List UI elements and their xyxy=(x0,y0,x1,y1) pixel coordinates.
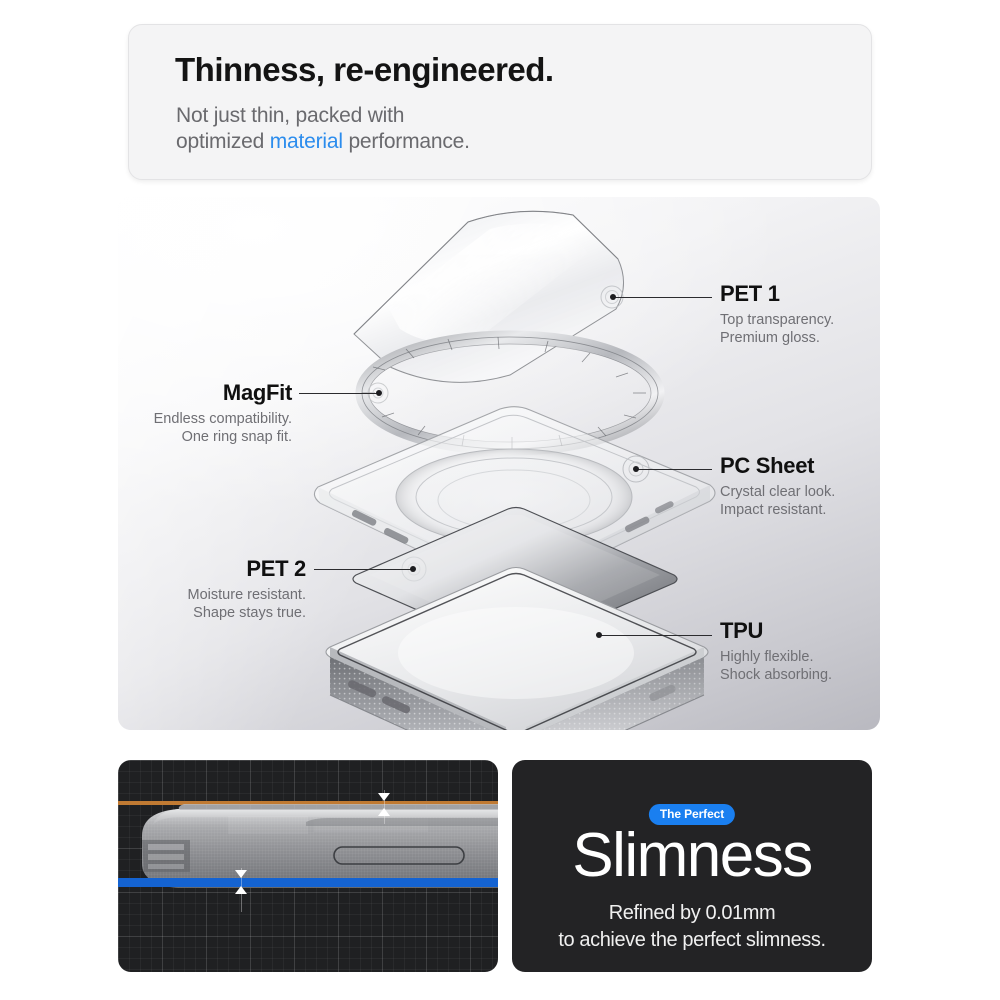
callout-pet2-desc: Moisture resistant. Shape stays true. xyxy=(118,586,306,622)
subtitle-line-1: Not just thin, packed with xyxy=(176,104,404,127)
callout-tpu-desc-line2: Shock absorbing. xyxy=(720,667,832,683)
measure-line-bottom xyxy=(118,878,498,887)
profile-measurement-panel xyxy=(118,760,498,972)
page-title: Thinness, re-engineered. xyxy=(175,51,554,89)
header-card: Thinness, re-engineered. Not just thin, … xyxy=(128,24,872,180)
slimness-title: Slimness xyxy=(512,820,872,892)
callout-tpu: TPU Highly flexible. Shock absorbing. xyxy=(720,618,832,684)
callout-tpu-desc: Highly flexible. Shock absorbing. xyxy=(720,648,832,684)
leader-dot-pet2 xyxy=(410,566,416,572)
callout-magfit: MagFit Endless compatibility. One ring s… xyxy=(118,380,292,446)
callout-magfit-title: MagFit xyxy=(118,380,292,406)
exploded-view-panel: PET 1 Top transparency. Premium gloss. M… xyxy=(118,197,880,730)
callout-pcsheet-desc: Crystal clear look. Impact resistant. xyxy=(720,483,835,519)
leader-line-magfit xyxy=(299,393,381,394)
leader-line-pcsheet xyxy=(638,469,712,470)
callout-pet1-desc: Top transparency. Premium gloss. xyxy=(720,311,834,347)
callout-pet2-desc-line2: Shape stays true. xyxy=(193,605,306,621)
leader-dot-pet1 xyxy=(610,294,616,300)
callout-magfit-desc: Endless compatibility. One ring snap fit… xyxy=(118,410,292,446)
measure-marker-bottom-up xyxy=(235,886,247,894)
subtitle-accent-word: material xyxy=(270,130,343,153)
callout-pcsheet-desc-line1: Crystal clear look. xyxy=(720,484,835,500)
callout-pet1-desc-line2: Premium gloss. xyxy=(720,330,820,346)
page-subtitle: Not just thin, packed with optimized mat… xyxy=(176,103,470,155)
subtitle-line-2-post: performance. xyxy=(343,130,470,153)
callout-magfit-desc-line1: Endless compatibility. xyxy=(154,411,292,427)
slimness-sub-line2: to achieve the perfect slimness. xyxy=(558,929,825,951)
leader-dot-pcsheet xyxy=(633,466,639,472)
leader-line-pet2 xyxy=(314,569,414,570)
slimness-card: The Perfect Slimness Refined by 0.01mm t… xyxy=(512,760,872,972)
measure-marker-top-down xyxy=(378,793,390,801)
callout-pcsheet-title: PC Sheet xyxy=(720,453,835,479)
callout-pcsheet: PC Sheet Crystal clear look. Impact resi… xyxy=(720,453,835,519)
leader-line-tpu xyxy=(600,635,712,636)
callout-pet1-desc-line1: Top transparency. xyxy=(720,312,834,328)
callout-magfit-desc-line2: One ring snap fit. xyxy=(182,429,292,445)
callout-pcsheet-desc-line2: Impact resistant. xyxy=(720,502,826,518)
leader-line-pet1 xyxy=(614,297,712,298)
callout-pet1-title: PET 1 xyxy=(720,281,834,307)
subtitle-line-2-pre: optimized xyxy=(176,130,270,153)
callout-tpu-desc-line1: Highly flexible. xyxy=(720,649,814,665)
leader-dot-magfit xyxy=(376,390,382,396)
case-side-profile-illustration xyxy=(118,760,498,972)
leader-dot-tpu xyxy=(596,632,602,638)
callout-pet2-title: PET 2 xyxy=(118,556,306,582)
callout-pet1: PET 1 Top transparency. Premium gloss. xyxy=(720,281,834,347)
callout-pet2-desc-line1: Moisture resistant. xyxy=(188,587,306,603)
callout-pet2: PET 2 Moisture resistant. Shape stays tr… xyxy=(118,556,306,622)
measure-marker-top-up xyxy=(378,808,390,816)
slimness-sub-line1: Refined by 0.01mm xyxy=(609,902,776,924)
callout-tpu-title: TPU xyxy=(720,618,832,644)
measure-marker-bottom-down xyxy=(235,870,247,878)
slimness-subtitle: Refined by 0.01mm to achieve the perfect… xyxy=(512,900,872,954)
